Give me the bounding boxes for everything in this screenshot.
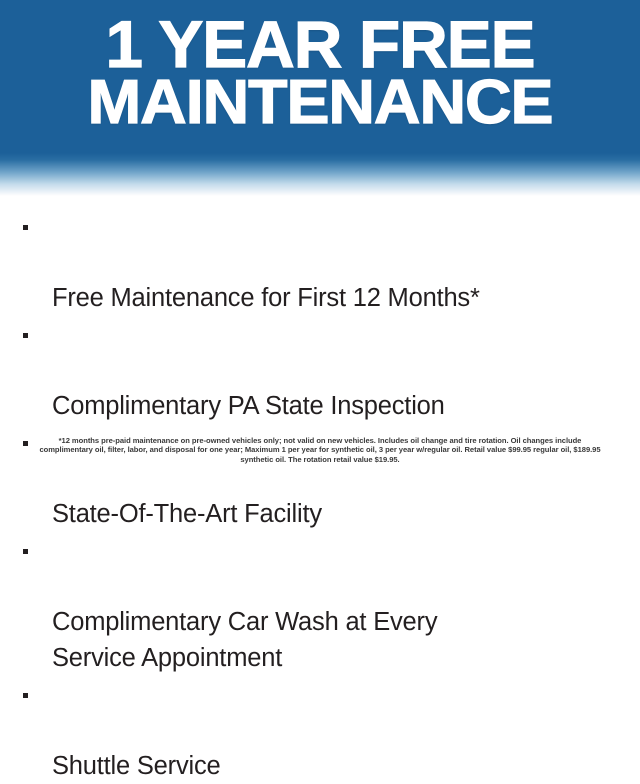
feature-list: Free Maintenance for First 12 Months* Co… [0,208,640,784]
feature-text: Free Maintenance for First 12 Months* [52,284,480,312]
bullet-square-icon [23,441,28,446]
banner-headline: 1 YEAR FREE MAINTENANCE [0,0,640,133]
list-item: Complimentary PA State Inspection [0,316,640,424]
promo-banner: 1 YEAR FREE MAINTENANCE [0,0,640,196]
bullet-square-icon [23,693,28,698]
feature-text: Complimentary Car Wash at Every Service … [52,608,437,672]
list-item: Complimentary Car Wash at Every Service … [0,532,640,676]
bullet-square-icon [23,549,28,554]
list-item: Free Maintenance for First 12 Months* [0,208,640,316]
feature-text: Complimentary PA State Inspection [52,392,445,420]
bullet-square-icon [23,225,28,230]
list-item: Shuttle Service [0,676,640,784]
bullet-square-icon [23,333,28,338]
headline-line-2: MAINTENANCE [0,73,640,134]
feature-text: Shuttle Service [52,752,221,780]
headline-line-1: 1 YEAR FREE [0,0,640,77]
feature-text: State-Of-The-Art Facility [52,500,322,528]
disclaimer-text: *12 months pre-paid maintenance on pre-o… [36,436,604,464]
